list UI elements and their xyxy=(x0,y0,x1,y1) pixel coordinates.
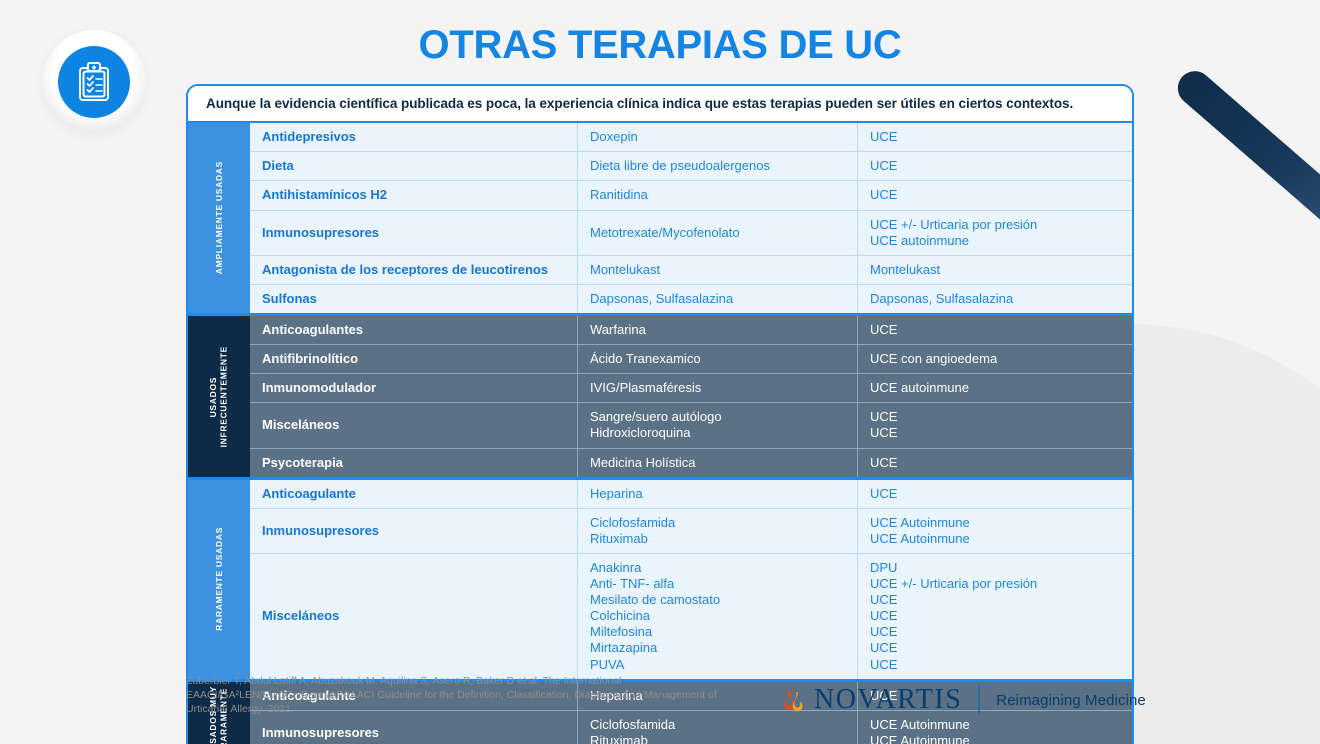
novartis-flame-icon xyxy=(778,685,808,715)
table-row: PsycoterapiaMedicina HolísticaUCE xyxy=(250,448,1132,477)
cell-therapy: Warfarina xyxy=(577,316,857,344)
cell-therapy: AnakinraAnti- TNF- alfaMesilato de camos… xyxy=(577,554,857,679)
cell-indication: Montelukast xyxy=(857,256,1132,284)
cell-indication: UCE AutoinmuneUCE Autoinmune xyxy=(857,509,1132,553)
cell-category: Misceláneos xyxy=(250,554,577,679)
table-row: AntifibrinolíticoÁcido TranexamicoUCE co… xyxy=(250,344,1132,373)
cell-indication: UCE +/- Urticaria por presiónUCE autoinm… xyxy=(857,211,1132,255)
cell-category: Antidepresivos xyxy=(250,123,577,151)
cell-category: Misceláneos xyxy=(250,403,577,447)
cell-therapy: Ácido Tranexamico xyxy=(577,345,857,373)
section-rows: AnticoagulantesWarfarinaUCEAntifibrinolí… xyxy=(250,316,1132,477)
logo-tagline: Reimagining Medicine xyxy=(996,692,1146,709)
table-section: AMPLIAMENTE USADASAntidepresivosDoxepinU… xyxy=(188,123,1132,313)
cell-therapy: Ranitidina xyxy=(577,181,857,209)
decorative-navy-bar xyxy=(1171,64,1320,286)
table-row: MisceláneosAnakinraAnti- TNF- alfaMesila… xyxy=(250,553,1132,679)
decorative-blue-bar xyxy=(0,644,131,744)
logo-divider xyxy=(978,686,980,714)
page-title: OTRAS TERAPIAS DE UC xyxy=(0,23,1320,68)
cell-therapy: Montelukast xyxy=(577,256,857,284)
cell-category: Anticoagulantes xyxy=(250,316,577,344)
table-row: InmunosupresoresCiclofosfamidaRituximabU… xyxy=(250,508,1132,553)
novartis-logo: NOVARTIS Reimagining Medicine xyxy=(778,684,1146,716)
cell-indication: UCE xyxy=(857,152,1132,180)
table-row: Antagonista de los receptores de leucoti… xyxy=(250,255,1132,284)
slide-canvas: OTRAS TERAPIAS DE UC Aunque la evidencia… xyxy=(0,0,1320,744)
cell-category: Psycoterapia xyxy=(250,449,577,477)
cell-category: Sulfonas xyxy=(250,285,577,313)
cell-therapy: Sangre/suero autólogoHidroxicloroquina xyxy=(577,403,857,447)
cell-therapy: Medicina Holística xyxy=(577,449,857,477)
cell-therapy: CiclofosfamidaRituximab xyxy=(577,509,857,553)
cell-category: Antifibrinolítico xyxy=(250,345,577,373)
table-row: DietaDieta libre de pseudoalergenosUCE xyxy=(250,151,1132,180)
section-label-text: USADOS INFRECUENTEMENTE xyxy=(208,346,229,447)
section-vertical-label: USADOS INFRECUENTEMENTE xyxy=(188,316,250,477)
cell-category: Antagonista de los receptores de leucoti… xyxy=(250,256,577,284)
table-row: InmunomoduladorIVIG/PlasmaféresisUCE aut… xyxy=(250,373,1132,402)
cell-therapy: Dapsonas, Sulfasalazina xyxy=(577,285,857,313)
table-sections: AMPLIAMENTE USADASAntidepresivosDoxepinU… xyxy=(188,123,1132,744)
section-rows: AnticoagulanteHeparinaUCEInmunosupresore… xyxy=(250,480,1132,679)
cell-therapy: Dieta libre de pseudoalergenos xyxy=(577,152,857,180)
cell-category: Inmunosupresores xyxy=(250,509,577,553)
cell-indication: UCE con angioedema xyxy=(857,345,1132,373)
section-vertical-label: AMPLIAMENTE USADAS xyxy=(188,123,250,313)
table-row: AntidepresivosDoxepinUCE xyxy=(250,123,1132,151)
section-rows: AntidepresivosDoxepinUCEDietaDieta libre… xyxy=(250,123,1132,313)
cell-therapy: Heparina xyxy=(577,480,857,508)
cell-therapy: Doxepin xyxy=(577,123,857,151)
cell-category: Dieta xyxy=(250,152,577,180)
cell-therapy: Metotrexate/Mycofenolato xyxy=(577,211,857,255)
table-row: MisceláneosSangre/suero autólogoHidroxic… xyxy=(250,402,1132,447)
table-row: AnticoagulanteHeparinaUCE xyxy=(250,480,1132,508)
section-vertical-label: RARAMENTE USADAS xyxy=(188,480,250,679)
cell-indication: UCE xyxy=(857,316,1132,344)
section-label-text: RARAMENTE USADAS xyxy=(214,527,225,631)
cell-indication: UCE xyxy=(857,480,1132,508)
citation-text: Zuberbier T, Abdul Latiff A, Abuzakouk M… xyxy=(186,674,746,717)
cell-category: Inmunosupresores xyxy=(250,211,577,255)
logo-wordmark: NOVARTIS xyxy=(814,684,962,716)
cell-indication: DPUUCE +/- Urticaria por presiónUCEUCEUC… xyxy=(857,554,1132,679)
cell-category: Inmunomodulador xyxy=(250,374,577,402)
cell-category: Anticoagulante xyxy=(250,480,577,508)
cell-indication: Dapsonas, Sulfasalazina xyxy=(857,285,1132,313)
table-row: Antihistamínicos H2RanitidinaUCE xyxy=(250,180,1132,209)
cell-indication: UCE xyxy=(857,181,1132,209)
cell-therapy: IVIG/Plasmaféresis xyxy=(577,374,857,402)
table-row: InmunosupresoresMetotrexate/Mycofenolato… xyxy=(250,210,1132,255)
cell-indication: UCE autoinmune xyxy=(857,374,1132,402)
therapy-table-card: Aunque la evidencia científica publicada… xyxy=(186,84,1134,744)
cell-indication: UCEUCE xyxy=(857,403,1132,447)
table-banner-note: Aunque la evidencia científica publicada… xyxy=(188,86,1132,123)
cell-indication: UCE xyxy=(857,123,1132,151)
cell-indication: UCE xyxy=(857,449,1132,477)
table-section: USADOS INFRECUENTEMENTEAnticoagulantesWa… xyxy=(188,316,1132,477)
section-label-text: AMPLIAMENTE USADAS xyxy=(214,161,225,274)
table-row: AnticoagulantesWarfarinaUCE xyxy=(250,316,1132,344)
table-row: SulfonasDapsonas, SulfasalazinaDapsonas,… xyxy=(250,284,1132,313)
table-section: RARAMENTE USADASAnticoagulanteHeparinaUC… xyxy=(188,480,1132,679)
cell-category: Antihistamínicos H2 xyxy=(250,181,577,209)
